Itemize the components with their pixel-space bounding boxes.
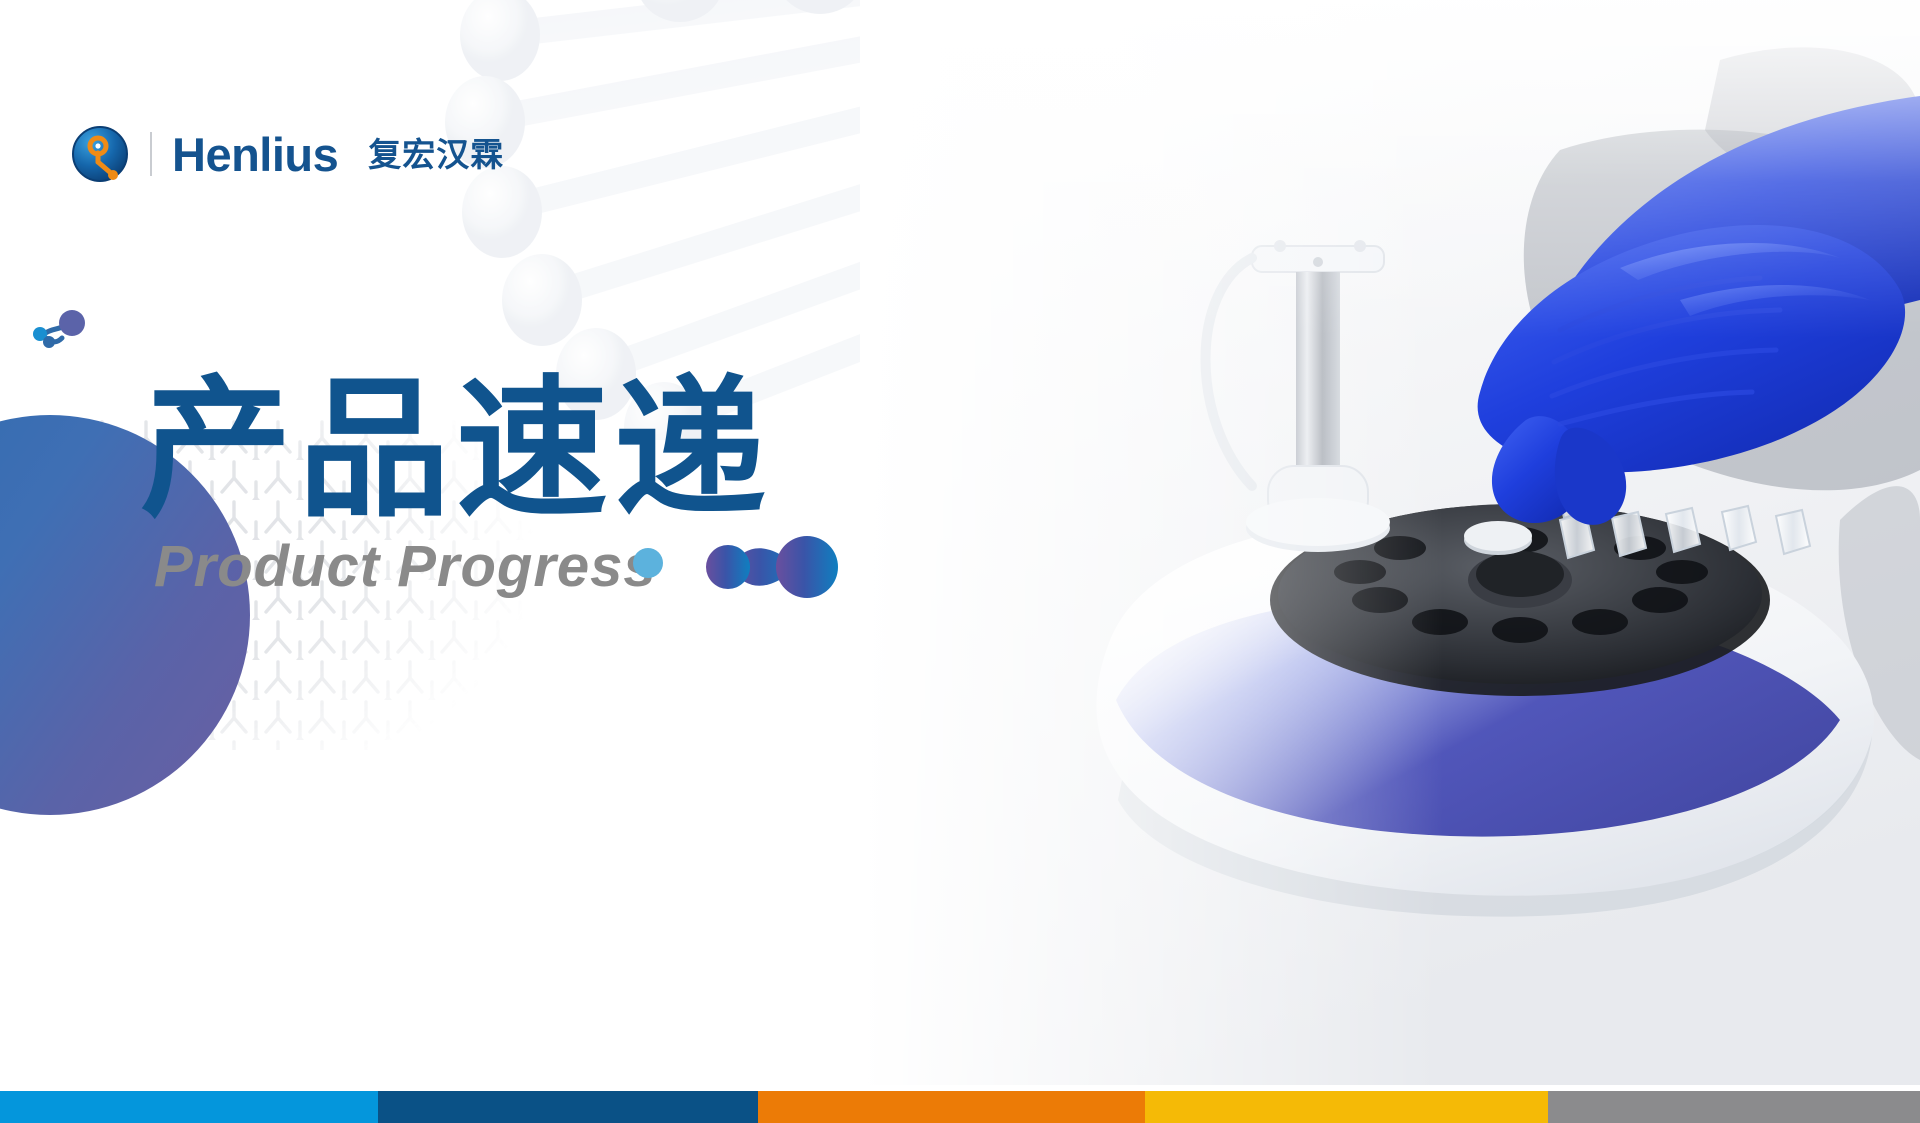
molecule-dumbbell-icon bbox=[697, 536, 847, 598]
molecule-dots-icon bbox=[28, 308, 98, 360]
colorbar-segment-gray bbox=[1548, 1091, 1920, 1123]
logo-divider bbox=[150, 132, 152, 176]
slide-canvas: Henlius 复宏汉霖 产品速递 Product Progress bbox=[0, 0, 1920, 1123]
colorbar-segment-yellow bbox=[1145, 1091, 1548, 1123]
lab-centrifuge-photo bbox=[860, 0, 1920, 1085]
colorbar-segment-dark-blue bbox=[378, 1091, 758, 1123]
page-title: 产品速递 bbox=[140, 372, 772, 527]
page-subtitle: Product Progress bbox=[154, 533, 772, 600]
accent-dot-icon bbox=[633, 548, 663, 578]
colorbar-segment-light-blue bbox=[0, 1091, 378, 1123]
bottom-color-bar bbox=[0, 1091, 1920, 1123]
title-block: 产品速递 Product Progress bbox=[140, 372, 772, 600]
henlius-molecule-disc-icon bbox=[72, 126, 128, 182]
logo-chinese-name: 复宏汉霖 bbox=[368, 138, 504, 171]
brand-logo[interactable]: Henlius 复宏汉霖 bbox=[72, 122, 504, 186]
logo-wordmark: Henlius bbox=[172, 131, 338, 178]
colorbar-segment-orange bbox=[758, 1091, 1145, 1123]
